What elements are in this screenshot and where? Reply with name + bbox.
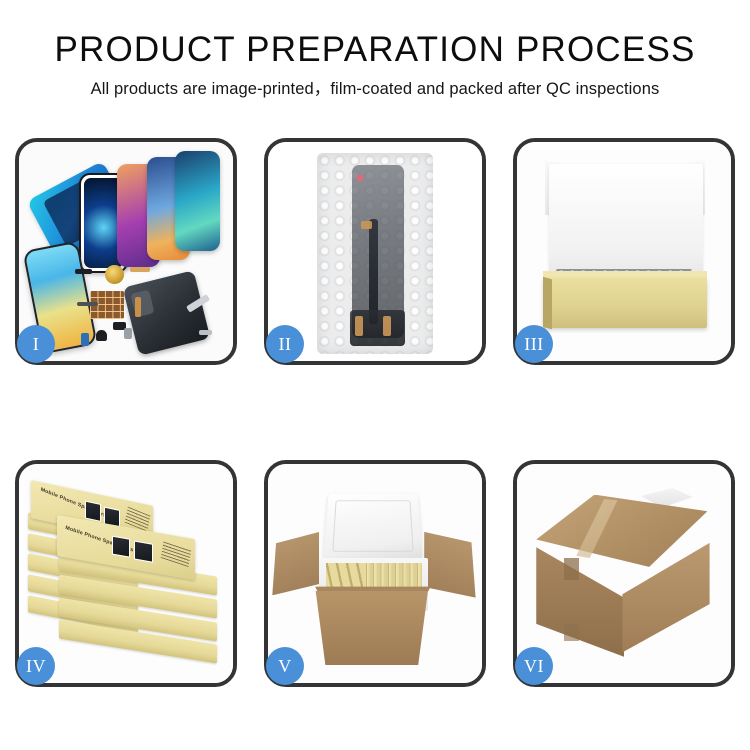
flex-cable-4 [124, 328, 133, 339]
shipping-carton-top [536, 495, 707, 567]
flex-cable-2 [135, 297, 141, 317]
carton-body [311, 591, 433, 665]
step-badge-i: I [17, 325, 55, 363]
step-image-i [19, 142, 233, 361]
carton-flap-left [272, 532, 319, 596]
phone-screen-teal [175, 151, 220, 252]
phone-parts-scene [19, 142, 233, 361]
step-image-iii [517, 142, 731, 361]
box-screen-image-back-1 [85, 500, 101, 521]
product-preparation-infographic: PRODUCT PREPARATION PROCESS All products… [0, 0, 750, 750]
wrapped-flex-cable [369, 219, 378, 324]
step-panel-i: I [15, 138, 237, 365]
step-badge-v: V [266, 647, 304, 685]
page-title: PRODUCT PREPARATION PROCESS [0, 30, 750, 70]
carton-edge-tab-lower [564, 624, 579, 642]
step-image-iv: Mobile Phone Spare Parts Mobile Phone Sp… [19, 464, 233, 683]
process-steps-grid: I II [15, 138, 735, 687]
step-badge-vi: VI [515, 647, 553, 685]
step-image-vi [517, 464, 731, 683]
red-label-tab [357, 175, 364, 181]
step-badge-iii: III [515, 325, 553, 363]
screw-part-1 [199, 330, 212, 334]
connector-1 [361, 221, 371, 229]
connector-2 [355, 316, 363, 336]
chip-part-1 [75, 269, 92, 274]
step-badge-ii: II [266, 325, 304, 363]
bubble-wrap-bag [317, 153, 433, 354]
step-panel-v: V [264, 460, 486, 687]
chip-part-3 [96, 330, 107, 341]
step-panel-ii: II [264, 138, 486, 365]
chip-part-4 [81, 333, 88, 346]
step-panel-iv: Mobile Phone Spare Parts Mobile Phone Sp… [15, 460, 237, 687]
shipping-carton-left-face [536, 547, 624, 657]
flex-cable-3 [77, 302, 98, 306]
box-screen-image-front-2 [134, 541, 153, 563]
step-panel-iii: III [513, 138, 735, 365]
step-panel-vi: VI [513, 460, 735, 687]
box-screen-image-front-1 [112, 535, 130, 557]
connector-3 [383, 316, 391, 336]
carton-flap-right [424, 532, 475, 598]
step-badge-iv: IV [17, 647, 55, 685]
gold-coil-part [105, 265, 124, 285]
retail-box-stack: Mobile Phone Spare Parts Mobile Phone Sp… [28, 482, 225, 670]
step-image-v [268, 464, 482, 683]
carton-edge-tab-upper [564, 558, 579, 580]
tray-side-left [543, 277, 552, 330]
flex-cable-1 [130, 267, 149, 272]
header: PRODUCT PREPARATION PROCESS All products… [0, 0, 750, 99]
box-spec-lines-front [161, 540, 191, 567]
foam-lid [323, 494, 423, 561]
step-image-ii [268, 142, 482, 361]
page-subtitle: All products are image-printed，film-coat… [0, 79, 750, 99]
golden-tray-body [543, 278, 708, 328]
